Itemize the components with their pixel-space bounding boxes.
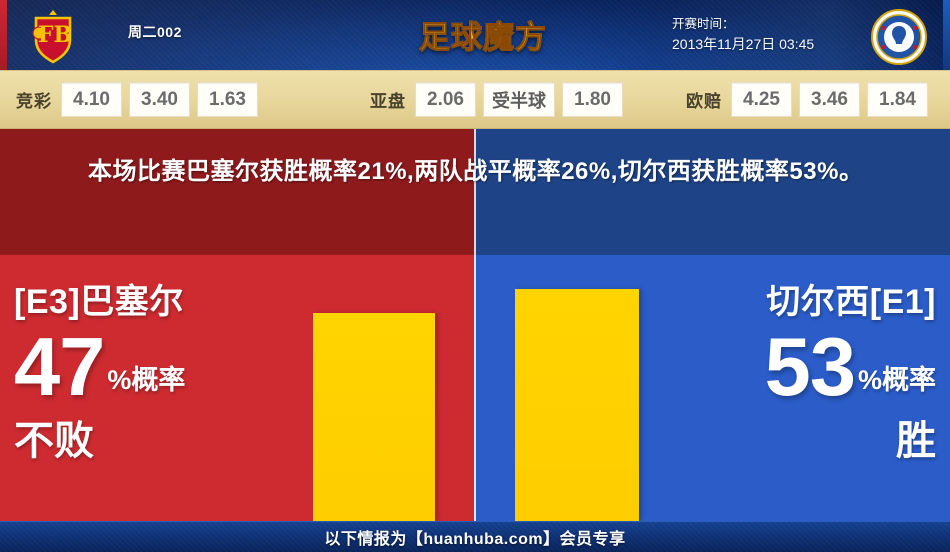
away-verdict: 胜 (636, 417, 936, 465)
away-team-name: 切尔西[E1] (636, 281, 936, 323)
header-left-accent (0, 0, 7, 70)
summary-divider (474, 129, 476, 255)
home-percent-unit: %概率 (107, 360, 185, 400)
odds-cell-yapan-home[interactable]: 2.06 (415, 82, 476, 117)
odds-cell-oupei-draw[interactable]: 3.46 (799, 82, 860, 117)
home-probability-bar (313, 313, 435, 521)
brand-name: 足球魔方 (419, 12, 547, 57)
home-team-block: [E3]巴塞尔 47 %概率 不败 (14, 255, 314, 465)
odds-group-yapan: 亚盘 2.06 受半球 1.80 (370, 82, 630, 117)
away-team-block: 切尔西[E1] 53 %概率 胜 (636, 255, 936, 465)
away-percent-unit: %概率 (858, 360, 936, 400)
away-probability-bar (515, 289, 639, 521)
probability-chart: [E3]巴塞尔 47 %概率 不败 切尔西[E1] 53 %概率 胜 (0, 255, 950, 521)
odds-group-oupei: 欧赔 4.25 3.46 1.84 (686, 82, 935, 117)
kickoff-label: 开赛时间： (672, 14, 814, 34)
odds-bar: 竞彩 4.10 3.40 1.63 亚盘 2.06 受半球 1.80 欧赔 4.… (0, 70, 950, 129)
kickoff-info: 开赛时间： 2013年11月27日 03:45 (672, 14, 814, 54)
summary-right-background (475, 129, 950, 255)
odds-cell-jingcai-away[interactable]: 1.63 (197, 82, 258, 117)
summary-left-background (0, 129, 475, 255)
header-bar: FB 周二002 足球魔方 开赛时间： 2013年11月27日 03:45 (0, 0, 950, 70)
away-percent-row: 53 %概率 (636, 327, 936, 407)
basel-crest-icon: FB (24, 6, 82, 64)
chelsea-crest-icon (870, 8, 928, 66)
svg-text:FB: FB (38, 22, 72, 48)
kickoff-time: 2013年11月27日 03:45 (672, 34, 814, 54)
round-label: 周二002 (128, 22, 182, 42)
odds-group-jingcai: 竞彩 4.10 3.40 1.63 (16, 82, 265, 117)
header-right-accent (943, 0, 950, 70)
odds-cell-oupei-home[interactable]: 4.25 (731, 82, 792, 117)
home-percent-value: 47 (14, 327, 104, 407)
odds-cell-yapan-away[interactable]: 1.80 (562, 82, 623, 117)
odds-group-label: 欧赔 (686, 87, 722, 112)
match-probability-infographic: FB 周二002 足球魔方 开赛时间： 2013年11月27日 03:45 竞彩… (0, 0, 950, 552)
odds-cell-jingcai-home[interactable]: 4.10 (61, 82, 122, 117)
odds-group-label: 亚盘 (370, 87, 406, 112)
odds-cell-jingcai-draw[interactable]: 3.40 (129, 82, 190, 117)
away-percent-value: 53 (765, 327, 855, 407)
home-team-name: [E3]巴塞尔 (14, 281, 314, 323)
footer-bar: 以下情报为【huanhuba.com】会员专享 (0, 521, 950, 552)
home-verdict: 不败 (14, 417, 314, 465)
home-percent-row: 47 %概率 (14, 327, 314, 407)
probability-summary-text: 本场比赛巴塞尔获胜概率21%,两队战平概率26%,切尔西获胜概率53%。 (88, 152, 878, 192)
brand-logo: 足球魔方 (408, 8, 558, 60)
odds-cell-yapan-handicap[interactable]: 受半球 (483, 82, 555, 117)
chart-divider (474, 255, 476, 521)
footer-notice: 以下情报为【huanhuba.com】会员专享 (324, 525, 625, 549)
odds-group-label: 竞彩 (16, 87, 52, 112)
odds-cell-oupei-away[interactable]: 1.84 (867, 82, 928, 117)
summary-section: 本场比赛巴塞尔获胜概率21%,两队战平概率26%,切尔西获胜概率53%。 (0, 129, 950, 255)
